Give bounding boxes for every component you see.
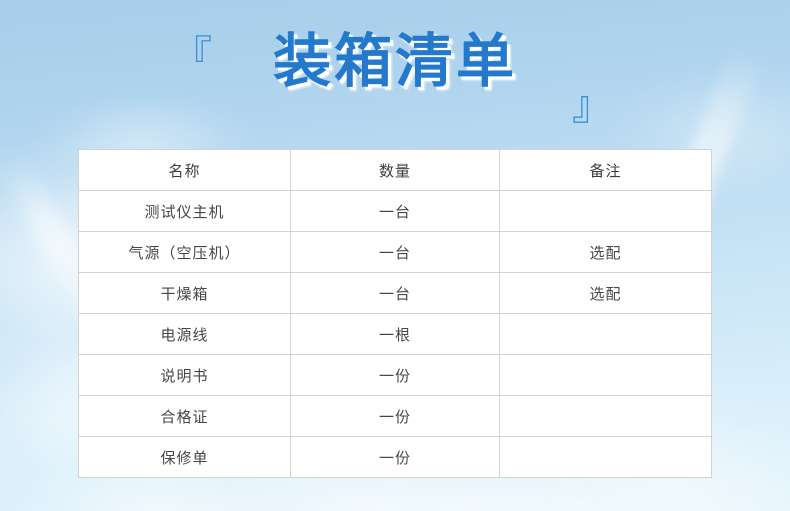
column-header-qty: 数量 bbox=[291, 150, 500, 191]
cell-name: 电源线 bbox=[79, 314, 291, 355]
table-body: 测试仪主机一台气源（空压机）一台选配干燥箱一台选配电源线一根说明书一份合格证一份… bbox=[79, 191, 712, 478]
packing-list-table: 名称 数量 备注 测试仪主机一台气源（空压机）一台选配干燥箱一台选配电源线一根说… bbox=[78, 149, 712, 478]
column-header-notes: 备注 bbox=[500, 150, 712, 191]
table-head: 名称 数量 备注 bbox=[79, 150, 712, 191]
cell-quantity: 一台 bbox=[291, 191, 500, 232]
cell-name: 合格证 bbox=[79, 396, 291, 437]
table-row: 干燥箱一台选配 bbox=[79, 273, 712, 314]
cell-notes bbox=[500, 355, 712, 396]
table-row: 测试仪主机一台 bbox=[79, 191, 712, 232]
cell-quantity: 一份 bbox=[291, 437, 500, 478]
quote-bracket-close-icon: 』 bbox=[572, 86, 612, 126]
title-block: 『 装箱清单 』 bbox=[0, 24, 790, 124]
table-row: 保修单一份 bbox=[79, 437, 712, 478]
cell-quantity: 一份 bbox=[291, 355, 500, 396]
cell-notes bbox=[500, 191, 712, 232]
table-header-row: 名称 数量 备注 bbox=[79, 150, 712, 191]
cell-name: 说明书 bbox=[79, 355, 291, 396]
cell-notes bbox=[500, 314, 712, 355]
cell-name: 干燥箱 bbox=[79, 273, 291, 314]
page-title: 装箱清单 bbox=[0, 24, 790, 98]
table-row: 说明书一份 bbox=[79, 355, 712, 396]
table-row: 电源线一根 bbox=[79, 314, 712, 355]
cell-name: 气源（空压机） bbox=[79, 232, 291, 273]
cell-notes bbox=[500, 437, 712, 478]
table-row: 合格证一份 bbox=[79, 396, 712, 437]
cell-quantity: 一台 bbox=[291, 273, 500, 314]
cell-quantity: 一根 bbox=[291, 314, 500, 355]
cell-notes bbox=[500, 396, 712, 437]
column-header-name: 名称 bbox=[79, 150, 291, 191]
cell-notes: 选配 bbox=[500, 273, 712, 314]
cell-quantity: 一份 bbox=[291, 396, 500, 437]
table-row: 气源（空压机）一台选配 bbox=[79, 232, 712, 273]
cell-quantity: 一台 bbox=[291, 232, 500, 273]
cell-notes: 选配 bbox=[500, 232, 712, 273]
cell-name: 保修单 bbox=[79, 437, 291, 478]
packing-list-page: 『 装箱清单 』 名称 数量 备注 测试仪主机一台气源（空压机）一台选配干燥箱一… bbox=[0, 0, 790, 511]
cell-name: 测试仪主机 bbox=[79, 191, 291, 232]
